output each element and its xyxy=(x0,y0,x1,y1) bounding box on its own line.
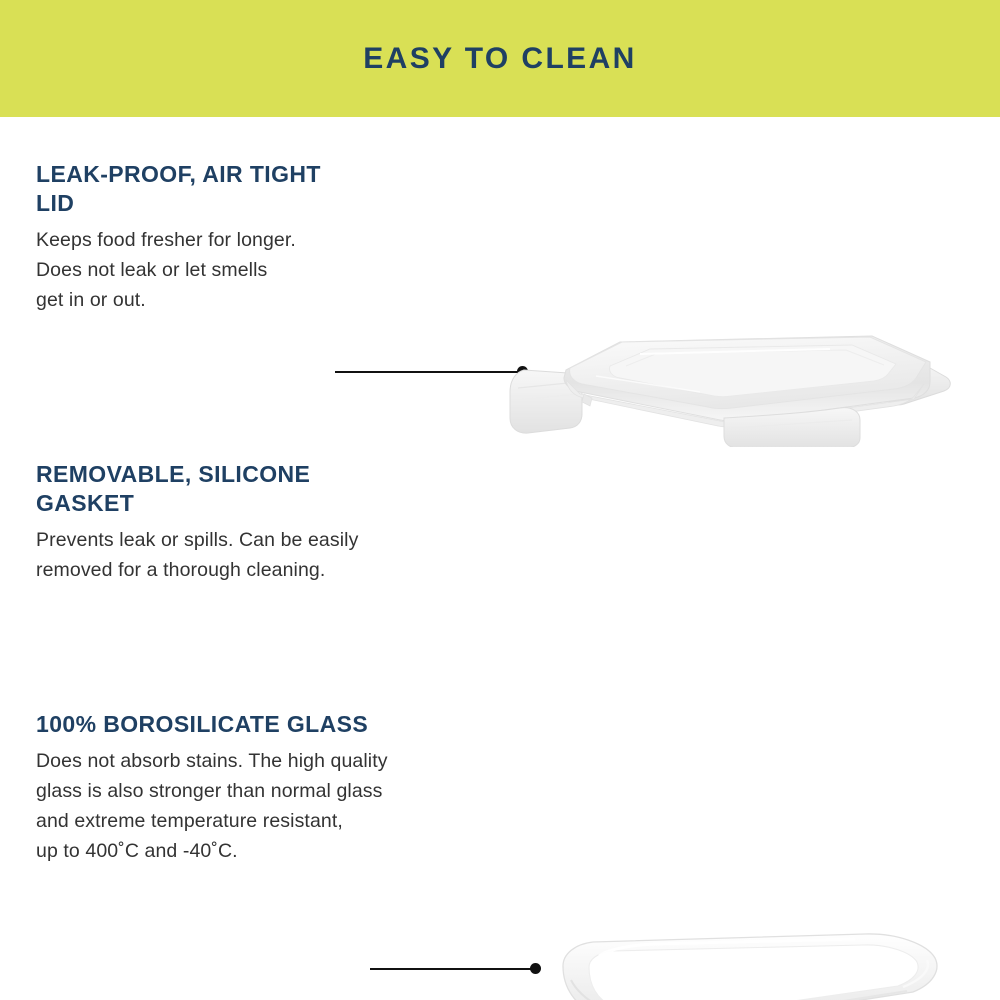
feature-heading-gasket: REMOVABLE, SILICONE GASKET xyxy=(36,460,376,518)
page-title: EASY TO CLEAN xyxy=(363,44,636,74)
leader-line-lid xyxy=(335,365,525,379)
infographic-page: EASY TO CLEAN LEAK-PROOF, AIR TIGHT LID … xyxy=(0,0,1000,1000)
product-image-airtight-lid xyxy=(500,322,960,447)
feature-row-glass: 100% BOROSILICATE GLASS Does not absorb … xyxy=(0,710,1000,990)
leader-line-stroke xyxy=(335,371,525,373)
airtight-lid-illustration xyxy=(500,322,960,447)
feature-row-gasket: REMOVABLE, SILICONE GASKET Prevents leak… xyxy=(0,460,1000,660)
feature-text-block: LEAK-PROOF, AIR TIGHT LID Keeps food fre… xyxy=(36,160,336,315)
feature-heading-lid: LEAK-PROOF, AIR TIGHT LID xyxy=(36,160,336,218)
feature-body-gasket: Prevents leak or spills. Can be easily r… xyxy=(36,525,376,585)
header-band: EASY TO CLEAN xyxy=(0,0,1000,117)
feature-text-block: 100% BOROSILICATE GLASS Does not absorb … xyxy=(36,710,456,866)
feature-heading-glass: 100% BOROSILICATE GLASS xyxy=(36,710,456,739)
feature-body-glass: Does not absorb stains. The high quality… xyxy=(36,746,456,866)
feature-text-block: REMOVABLE, SILICONE GASKET Prevents leak… xyxy=(36,460,376,585)
feature-row-lid: LEAK-PROOF, AIR TIGHT LID Keeps food fre… xyxy=(0,160,1000,390)
feature-body-lid: Keeps food fresher for longer. Does not … xyxy=(36,225,336,315)
